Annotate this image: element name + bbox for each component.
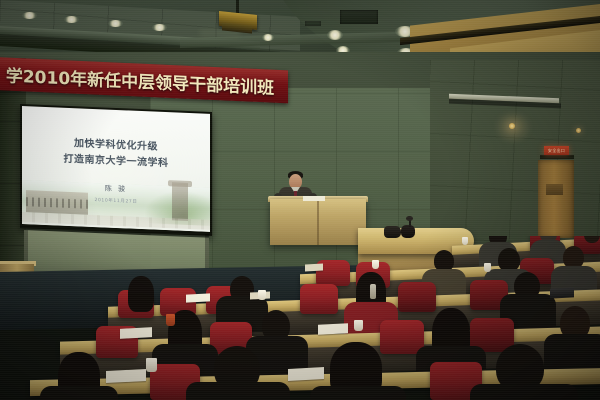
paper-cup <box>372 260 379 269</box>
cup <box>166 314 175 326</box>
wall-lamp <box>509 123 515 129</box>
exit-sign-text: 安全出口 <box>548 148 565 154</box>
door-window-panel <box>546 184 563 195</box>
microphone-icon <box>406 216 413 221</box>
ceiling-light <box>327 30 343 40</box>
attendee-shoulders <box>186 382 290 400</box>
attendee-shoulders <box>310 386 406 400</box>
water-bottle <box>370 284 376 299</box>
ceiling-light <box>64 16 79 23</box>
paper-sheet <box>288 367 324 381</box>
chair <box>380 320 424 354</box>
projection-screen: 加快学科优化升级 打造南京大学一流学科 陈 骏 2010年11月27日 <box>22 106 210 232</box>
paper-cup <box>258 290 266 300</box>
wall-lamp-secondary <box>576 128 581 133</box>
podium-notes <box>303 196 325 201</box>
side-door[interactable] <box>538 160 574 238</box>
paper-cup <box>484 263 491 272</box>
exit-sign-bracket <box>540 155 574 159</box>
exit-sign: 安全出口 <box>544 146 569 155</box>
laptop <box>550 287 574 298</box>
ceiling-light <box>22 12 37 19</box>
paper-cup <box>354 320 363 331</box>
ceiling-light <box>108 20 123 27</box>
attendee-shoulders <box>40 386 118 400</box>
paper-cup <box>462 237 468 245</box>
paper-sheet <box>186 293 210 302</box>
attendee-shoulders <box>470 384 578 400</box>
chair <box>300 284 338 314</box>
ceiling-light <box>152 24 167 31</box>
ceiling-vent <box>340 10 378 24</box>
lecture-hall-photo: 学2010年新任中层领导干部培训班 加快学科优化升级 打造南京大学一流学科 陈 … <box>0 0 600 400</box>
paper-sheet <box>120 327 152 339</box>
attendee-hair <box>128 276 154 312</box>
paper-cup <box>146 358 157 372</box>
paper-sheet <box>318 323 348 335</box>
audience-seating-area <box>0 236 600 400</box>
ceiling-vent-small <box>305 21 321 26</box>
paper-sheet <box>106 369 146 383</box>
paper-sheet <box>305 264 323 272</box>
ceiling-light <box>262 34 274 41</box>
chair <box>398 282 436 312</box>
